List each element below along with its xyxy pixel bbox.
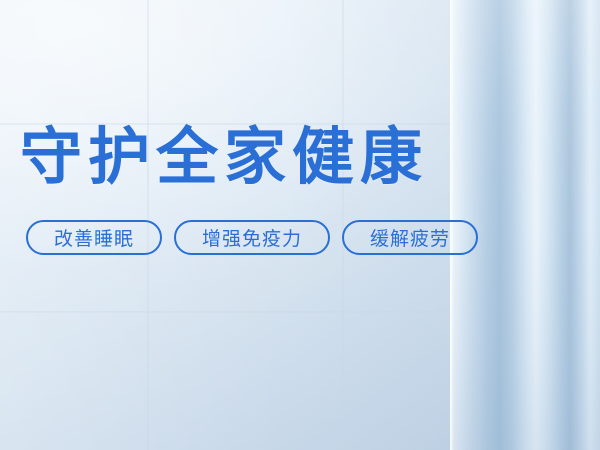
benefit-pill-boost-immunity[interactable]: 增强免疫力 [174,220,330,255]
benefit-pill-row: 改善睡眠 增强免疫力 缓解疲劳 [26,220,478,255]
benefit-pill-improve-sleep[interactable]: 改善睡眠 [26,220,162,255]
health-promo-banner: 守护全家健康 改善睡眠 增强免疫力 缓解疲劳 [0,0,600,450]
banner-content: 守护全家健康 改善睡眠 增强免疫力 缓解疲劳 [0,0,600,450]
benefit-pill-relieve-fatigue[interactable]: 缓解疲劳 [342,220,478,255]
headline-text: 守护全家健康 [20,124,428,190]
